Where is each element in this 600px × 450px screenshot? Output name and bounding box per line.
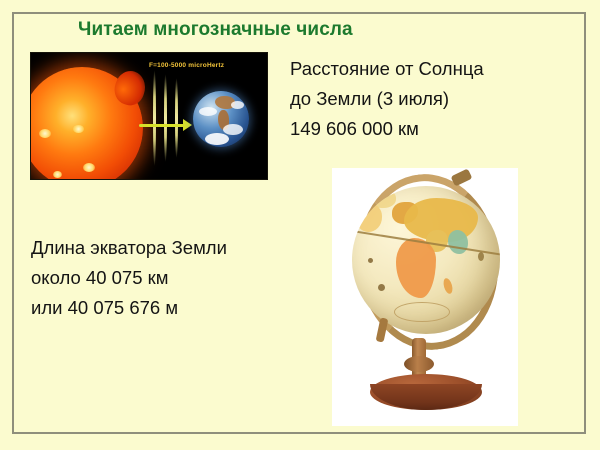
equator-line-2: около 40 075 км <box>31 263 227 293</box>
globe-stand-knob <box>404 356 434 372</box>
frequency-label: F=100-5000 microHertz <box>149 62 224 69</box>
continent-africa <box>396 238 436 298</box>
ocean-marker <box>478 252 484 261</box>
wave-line-icon <box>164 74 167 162</box>
ocean-marker <box>368 258 373 263</box>
sun-spot-icon <box>53 171 62 178</box>
equator-text-block: Длина экватора Земли около 40 075 км или… <box>31 233 227 323</box>
arrow-head-icon <box>183 119 192 131</box>
globe-image <box>332 168 518 426</box>
earth-cloud <box>205 133 229 145</box>
sun-distance-line-3: 149 606 000 км <box>290 114 484 144</box>
globe-sphere <box>352 186 500 334</box>
sun-distance-line-2: до Земли (3 июля) <box>290 84 484 114</box>
continent-india <box>448 230 468 254</box>
globe-base-rim <box>370 384 482 410</box>
ocean-label-ellipse <box>394 302 450 322</box>
sun-spot-icon <box>73 125 84 133</box>
equator-line-1: Длина экватора Земли <box>31 233 227 263</box>
sun-distance-line-1: Расстояние от Солнца <box>290 54 484 84</box>
continent-madagascar <box>442 277 454 295</box>
earth-cloud <box>223 124 243 135</box>
wave-line-icon <box>175 78 178 158</box>
arrow-icon <box>139 124 187 127</box>
globe-ring-cap <box>451 168 473 186</box>
page-title: Читаем многозначные числа <box>78 19 353 41</box>
sun-distance-text-block: Расстояние от Солнца до Земли (3 июля) 1… <box>290 54 484 144</box>
continent-north-america <box>356 204 382 232</box>
earth-cloud <box>231 101 244 109</box>
sun-spot-icon <box>39 129 51 138</box>
equator-line-3: или 40 075 676 м <box>31 293 227 323</box>
earth-icon <box>193 91 249 147</box>
earth-cloud <box>199 107 217 116</box>
wave-line-icon <box>153 70 156 166</box>
sun-spot-icon <box>83 163 95 172</box>
sun-earth-image: F=100-5000 microHertz <box>30 52 268 180</box>
slide: Читаем многозначные числа F=100-5000 mic… <box>0 0 600 450</box>
ocean-marker <box>378 284 385 291</box>
